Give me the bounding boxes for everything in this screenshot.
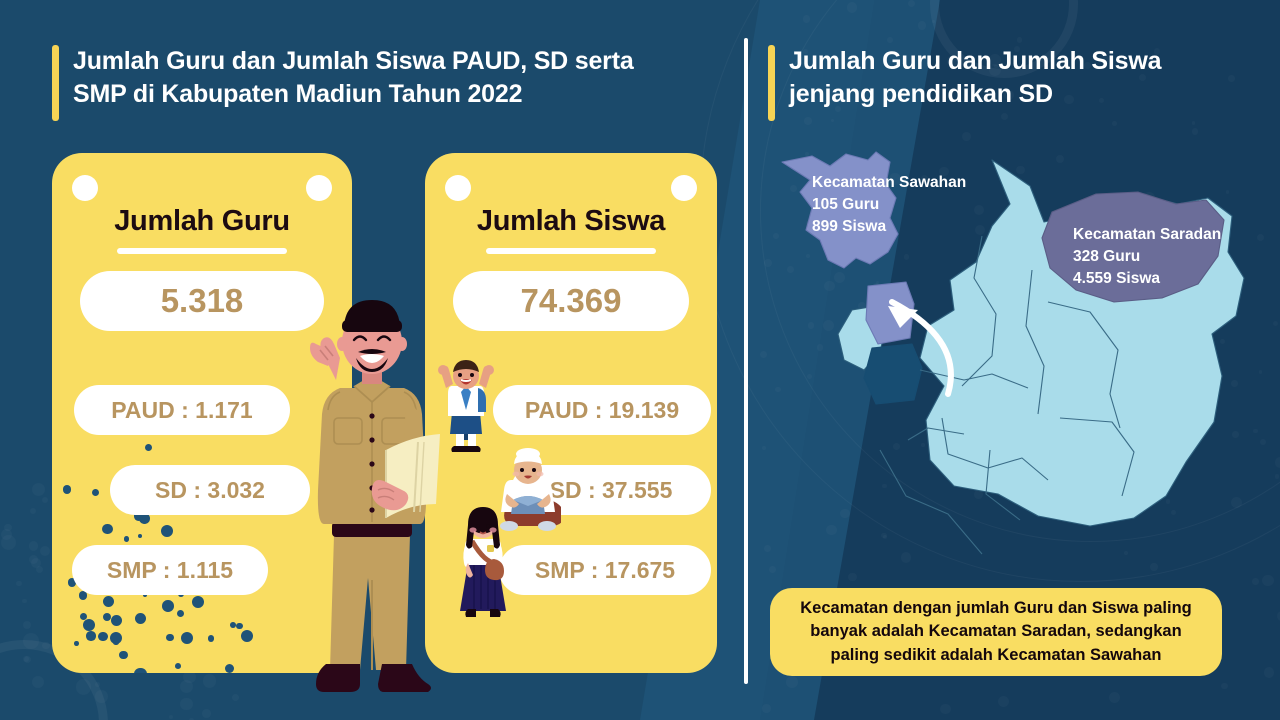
punch-hole-icon <box>306 175 332 201</box>
student-girl-illustration <box>454 505 512 625</box>
map-label-saradan: Kecamatan Saradan 328 Guru 4.559 Siswa <box>1073 224 1221 290</box>
punch-hole-icon <box>72 175 98 201</box>
student-boy-cheering-illustration <box>434 358 498 454</box>
left-title-text: Jumlah Guru dan Jumlah Siswa PAUD, SD se… <box>73 45 634 112</box>
map-label-sawahan: Kecamatan Sawahan 105 Guru 899 Siswa <box>812 172 966 238</box>
summary-note-text: Kecamatan dengan jumlah Guru dan Siswa p… <box>790 597 1202 667</box>
card-siswa-title: Jumlah Siswa <box>425 205 717 238</box>
siswa-smp-value: SMP : 17.675 <box>499 545 711 595</box>
punch-hole-icon <box>445 175 471 201</box>
siswa-paud-value: PAUD : 19.139 <box>493 385 711 435</box>
right-title-text: Jumlah Guru dan Jumlah Siswa jenjang pen… <box>789 45 1161 112</box>
summary-note-box: Kecamatan dengan jumlah Guru dan Siswa p… <box>770 588 1222 676</box>
infographic-canvas: Jumlah Guru dan Jumlah Siswa PAUD, SD se… <box>0 0 1280 720</box>
punch-hole-icon <box>671 175 697 201</box>
left-panel-title: Jumlah Guru dan Jumlah Siswa PAUD, SD se… <box>52 45 712 121</box>
title-accent-bar <box>52 45 59 121</box>
map-region-dark-patch <box>864 344 922 404</box>
card-title-underline <box>117 248 287 254</box>
title-accent-bar <box>768 45 775 121</box>
siswa-total-value: 74.369 <box>453 271 689 331</box>
right-panel-title: Jumlah Guru dan Jumlah Siswa jenjang pen… <box>768 45 1218 121</box>
panel-divider <box>744 38 748 684</box>
guru-paud-value: PAUD : 1.171 <box>74 385 290 435</box>
card-title-underline <box>486 248 656 254</box>
card-guru-title: Jumlah Guru <box>52 205 352 238</box>
guru-smp-value: SMP : 1.115 <box>72 545 268 595</box>
